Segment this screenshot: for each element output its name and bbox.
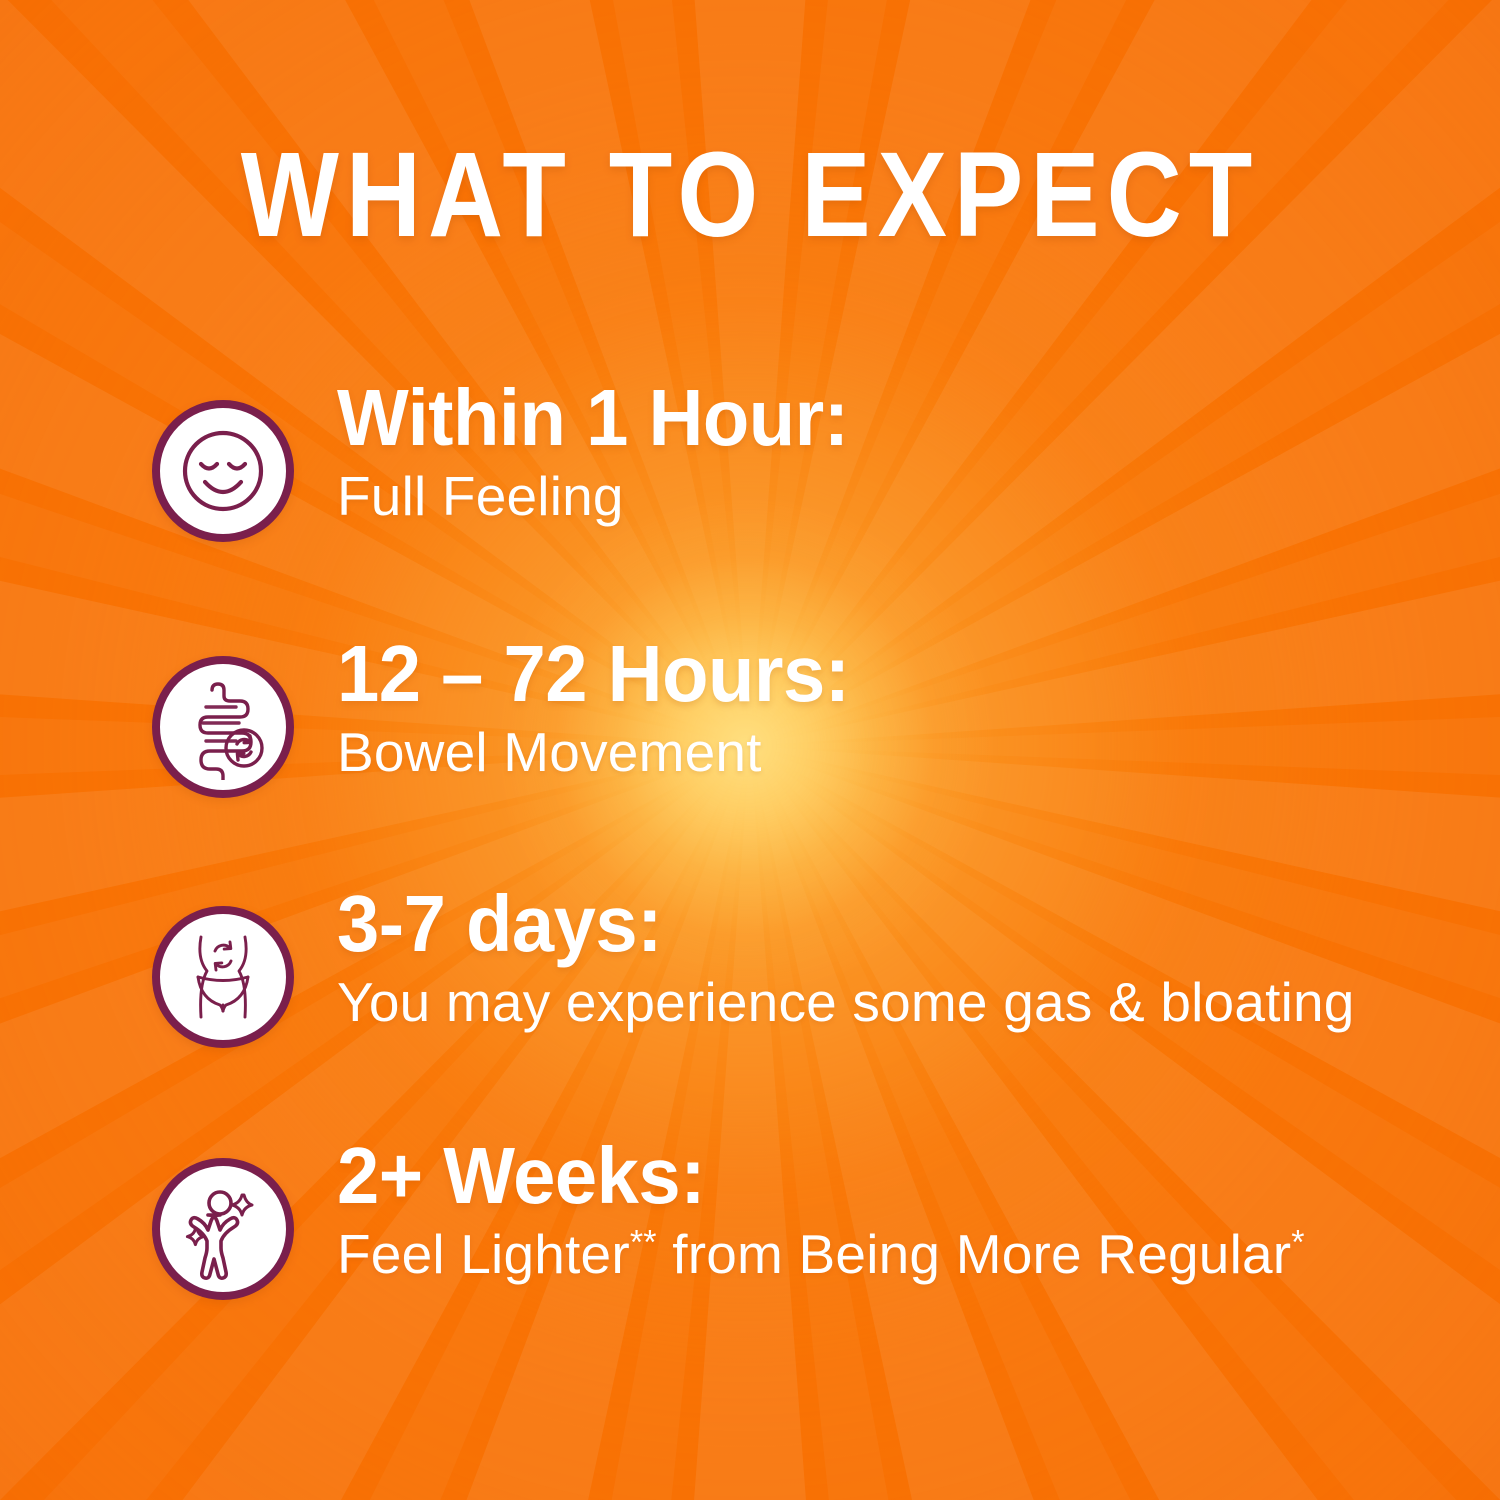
list-item-heading: 12 – 72 Hours: bbox=[337, 634, 1440, 716]
intestine-refresh-icon bbox=[152, 656, 294, 798]
smiling-face-icon bbox=[152, 400, 294, 542]
list-item-heading: Within 1 Hour: bbox=[337, 378, 1440, 460]
list-item: 2+ Weeks: Feel Lighter** from Being More… bbox=[152, 1136, 1440, 1300]
list-item-text: 12 – 72 Hours: Bowel Movement bbox=[294, 634, 1440, 784]
happy-person-sparkles-icon bbox=[152, 1158, 294, 1300]
list-item: 12 – 72 Hours: Bowel Movement bbox=[152, 634, 1440, 798]
list-item-subtitle: Feel Lighter** from Being More Regular* bbox=[337, 1224, 1440, 1286]
page-title: WHAT TO EXPECT bbox=[0, 134, 1500, 257]
list-item-text: 2+ Weeks: Feel Lighter** from Being More… bbox=[294, 1136, 1440, 1286]
list-item-subtitle: You may experience some gas & bloating bbox=[337, 972, 1440, 1034]
expectation-timeline-list: Within 1 Hour: Full Feeling bbox=[152, 378, 1440, 1300]
subtitle-prefix: Bowel Movement bbox=[337, 721, 762, 783]
list-item-heading: 2+ Weeks: bbox=[337, 1136, 1440, 1218]
subtitle-middle: from Being More Regular bbox=[657, 1223, 1292, 1285]
list-item: 3-7 days: You may experience some gas & … bbox=[152, 884, 1440, 1048]
list-item: Within 1 Hour: Full Feeling bbox=[152, 378, 1440, 542]
waistline-refresh-icon bbox=[152, 906, 294, 1048]
list-item-text: Within 1 Hour: Full Feeling bbox=[294, 378, 1440, 528]
list-item-heading: 3-7 days: bbox=[337, 884, 1440, 966]
subtitle-mark-2: * bbox=[1291, 1224, 1304, 1262]
subtitle-prefix: Full Feeling bbox=[337, 465, 624, 527]
subtitle-prefix: You may experience some gas & bloating bbox=[337, 971, 1355, 1033]
subtitle-prefix: Feel Lighter bbox=[337, 1223, 630, 1285]
what-to-expect-poster: WHAT TO EXPECT Within 1 Hour: Full Feeli… bbox=[0, 0, 1500, 1500]
list-item-subtitle: Full Feeling bbox=[337, 466, 1440, 528]
poster-content: WHAT TO EXPECT Within 1 Hour: Full Feeli… bbox=[0, 0, 1500, 1500]
subtitle-mark-1: ** bbox=[630, 1224, 657, 1262]
list-item-text: 3-7 days: You may experience some gas & … bbox=[294, 884, 1440, 1034]
list-item-subtitle: Bowel Movement bbox=[337, 722, 1440, 784]
